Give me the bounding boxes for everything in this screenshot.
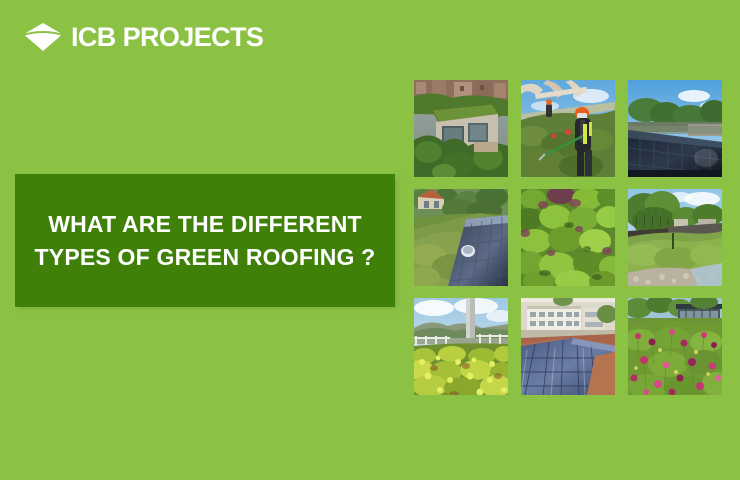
gallery-photo-4[interactable] (414, 189, 508, 286)
gallery-photo-9[interactable] (628, 298, 722, 395)
brand-logo[interactable]: ICB PROJECTS (24, 22, 263, 52)
gallery-photo-8[interactable] (521, 298, 615, 395)
gallery-photo-6[interactable] (628, 189, 722, 286)
gallery-photo-2[interactable] (521, 80, 615, 177)
gallery-photo-5[interactable] (521, 189, 615, 286)
gallery-photo-3[interactable] (628, 80, 722, 177)
gallery-photo-1[interactable] (414, 80, 508, 177)
headline-panel: WHAT ARE THE DIFFERENT TYPES OF GREEN RO… (15, 174, 395, 307)
diamond-split-icon (24, 22, 62, 52)
gallery-photo-7[interactable] (414, 298, 508, 395)
headline-line-2: TYPES OF GREEN ROOFING ? (33, 241, 377, 274)
photo-grid (414, 80, 722, 388)
headline-line-1: WHAT ARE THE DIFFERENT (33, 208, 377, 241)
brand-name: ICB PROJECTS (71, 22, 263, 52)
poster-canvas: ICB PROJECTS WHAT ARE THE DIFFERENT TYPE… (0, 0, 740, 480)
